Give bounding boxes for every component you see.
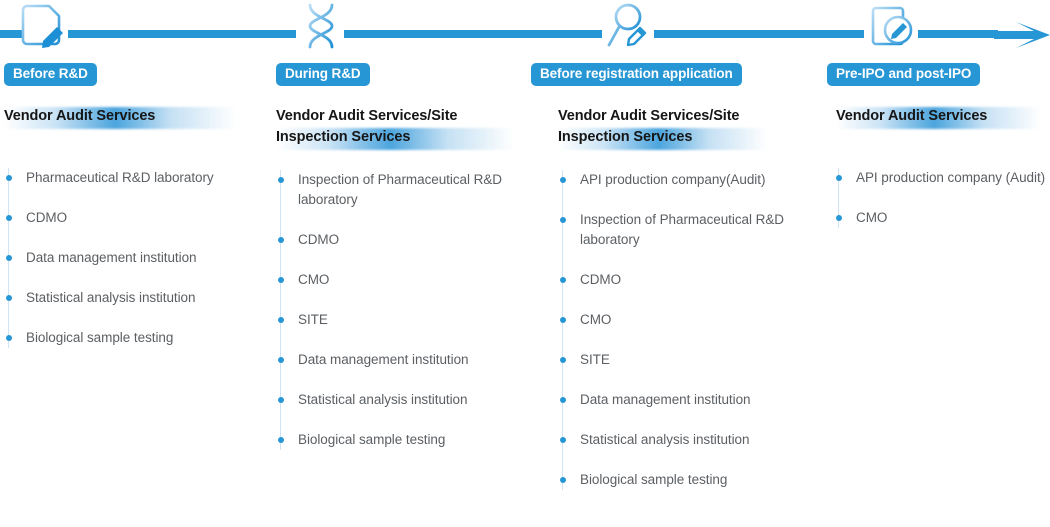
list-item: Pharmaceutical R&D laboratory [9, 168, 259, 188]
rail-segment-3 [344, 30, 602, 38]
list-item: CDMO [9, 208, 259, 228]
list-item: Statistical analysis institution [281, 390, 519, 410]
list-item: Biological sample testing [563, 470, 803, 490]
list-item: Biological sample testing [9, 328, 259, 348]
stage-heading-text: Vendor Audit Services/Site Inspection Se… [276, 106, 516, 148]
stage-list-pre-ipo-post-ipo: API production company (Audit) CMO [838, 168, 1050, 228]
list-item: Inspection of Pharmaceutical R&D laborat… [281, 170, 519, 210]
list-item: CDMO [281, 230, 519, 250]
stage-heading-before-registration-application: Vendor Audit Services/Site Inspection Se… [558, 106, 798, 148]
stage-list-before-registration-application: API production company(Audit) Inspection… [562, 170, 803, 490]
stage-heading-during-rd: Vendor Audit Services/Site Inspection Se… [276, 106, 516, 148]
list-item: CDMO [563, 270, 803, 290]
report-edit-icon [864, 0, 922, 52]
stage-badge-before-rd[interactable]: Before R&D [4, 63, 97, 86]
stage-heading-text: Vendor Audit Services/Site Inspection Se… [558, 106, 798, 148]
list-item: Inspection of Pharmaceutical R&D laborat… [563, 210, 803, 250]
rail-segment-5 [918, 30, 998, 38]
timeline-arrow-head [994, 22, 1050, 48]
stage-heading-before-rd: Vendor Audit Services [4, 106, 254, 127]
list-item: Data management institution [9, 248, 259, 268]
dna-helix-icon [292, 0, 350, 52]
list-item: Biological sample testing [281, 430, 519, 450]
list-item: SITE [281, 310, 519, 330]
stage-badge-during-rd[interactable]: During R&D [276, 63, 370, 86]
list-item: API production company(Audit) [563, 170, 803, 190]
list-item: Data management institution [281, 350, 519, 370]
stage-heading-text: Vendor Audit Services [4, 106, 254, 127]
rail-segment-4 [654, 30, 864, 38]
magnifier-pencil-icon [602, 0, 660, 52]
stage-heading-text: Vendor Audit Services [836, 106, 1050, 127]
document-pencil-icon [14, 0, 72, 52]
list-item: Statistical analysis institution [9, 288, 259, 308]
list-item: CMO [563, 310, 803, 330]
stage-badge-pre-ipo-post-ipo[interactable]: Pre-IPO and post-IPO [827, 63, 980, 86]
stage-heading-pre-ipo-post-ipo: Vendor Audit Services [836, 106, 1050, 127]
list-item: CMO [839, 208, 1050, 228]
list-item: Data management institution [563, 390, 803, 410]
list-item: API production company (Audit) [839, 168, 1050, 188]
list-item: SITE [563, 350, 803, 370]
stage-list-before-rd: Pharmaceutical R&D laboratory CDMO Data … [8, 168, 259, 348]
stage-badge-before-registration-application[interactable]: Before registration application [531, 63, 742, 86]
list-item: Statistical analysis institution [563, 430, 803, 450]
list-item: CMO [281, 270, 519, 290]
rail-segment-2 [68, 30, 296, 38]
stage-list-during-rd: Inspection of Pharmaceutical R&D laborat… [280, 170, 519, 450]
